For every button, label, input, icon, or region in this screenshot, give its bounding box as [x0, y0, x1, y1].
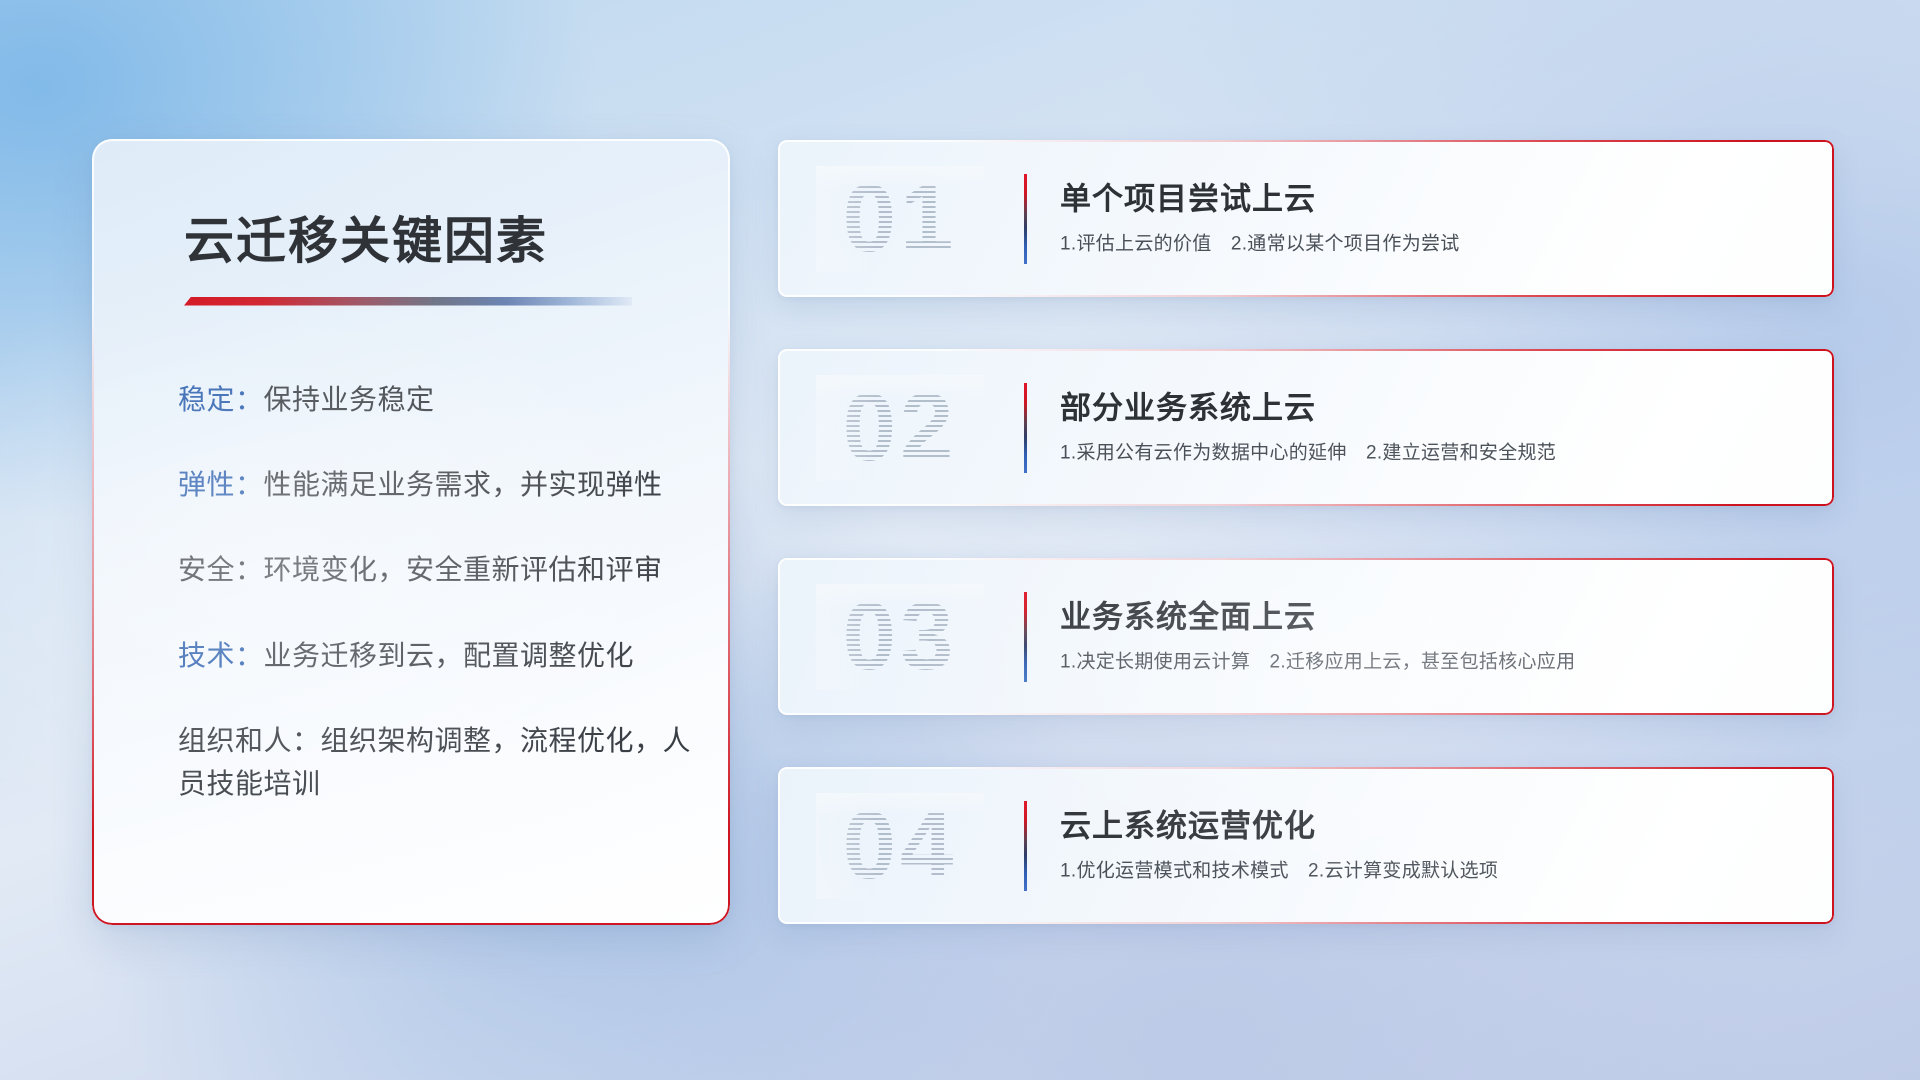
stage-card-02[interactable]: 02 部分业务系统上云 1.采用公有云作为数据中心的延伸 2.建立运营和安全规范	[778, 349, 1834, 506]
slide-canvas: 云迁移关键因素 稳定：保持业务稳定 弹性：性能满足业务需求，并实现弹性 安全：环…	[0, 0, 1920, 1080]
page-title: 云迁移关键因素	[184, 213, 684, 271]
stage-subtitle: 1.评估上云的价值 2.通常以某个项目作为尝试	[1060, 232, 1460, 258]
stage-number-graphic: 01	[816, 166, 984, 272]
stage-divider	[1024, 174, 1027, 264]
title-underline-rule	[184, 297, 632, 306]
factor-label: 安全：	[178, 554, 264, 585]
factor-label: 弹性：	[178, 469, 264, 500]
list-item: 稳定：保持业务稳定	[178, 378, 684, 421]
stage-card-03[interactable]: 03 业务系统全面上云 1.决定长期使用云计算 2.迁移应用上云，甚至包括核心应…	[778, 558, 1834, 715]
stage-divider	[1024, 592, 1027, 682]
list-item: 组织和人：组织架构调整，流程优化，人员技能培训	[178, 719, 718, 806]
stage-divider	[1024, 383, 1027, 473]
stage-divider	[1024, 801, 1027, 891]
factor-text: 环境变化，安全重新评估和评审	[264, 554, 663, 585]
stage-title: 部分业务系统上云	[1060, 389, 1556, 428]
stage-subtitle: 1.采用公有云作为数据中心的延伸 2.建立运营和安全规范	[1060, 441, 1556, 467]
stage-title: 业务系统全面上云	[1060, 598, 1575, 637]
stage-number-graphic: 04	[816, 793, 984, 899]
factor-label: 技术：	[178, 640, 264, 671]
list-item: 弹性：性能满足业务需求，并实现弹性	[178, 463, 684, 506]
stage-card-04[interactable]: 04 云上系统运营优化 1.优化运营模式和技术模式 2.云计算变成默认选项	[778, 767, 1834, 924]
list-item: 安全：环境变化，安全重新评估和评审	[178, 548, 684, 591]
factor-text: 性能满足业务需求，并实现弹性	[264, 469, 663, 500]
factor-text: 保持业务稳定	[264, 384, 435, 415]
stage-title: 云上系统运营优化	[1060, 807, 1498, 846]
stage-number-graphic: 03	[816, 584, 984, 690]
factor-label: 组织和人：	[178, 725, 321, 756]
factor-list: 稳定：保持业务稳定 弹性：性能满足业务需求，并实现弹性 安全：环境变化，安全重新…	[178, 378, 684, 806]
stage-subtitle: 1.优化运营模式和技术模式 2.云计算变成默认选项	[1060, 859, 1498, 885]
factor-label: 稳定：	[178, 384, 264, 415]
stage-title: 单个项目尝试上云	[1060, 180, 1460, 219]
list-item: 技术：业务迁移到云，配置调整优化	[178, 634, 684, 677]
factor-text: 业务迁移到云，配置调整优化	[264, 640, 635, 671]
stage-subtitle: 1.决定长期使用云计算 2.迁移应用上云，甚至包括核心应用	[1060, 650, 1575, 676]
stage-number-graphic: 02	[816, 375, 984, 481]
key-factors-panel: 云迁移关键因素 稳定：保持业务稳定 弹性：性能满足业务需求，并实现弹性 安全：环…	[92, 139, 730, 925]
stage-card-01[interactable]: 01 单个项目尝试上云 1.评估上云的价值 2.通常以某个项目作为尝试	[778, 140, 1834, 297]
